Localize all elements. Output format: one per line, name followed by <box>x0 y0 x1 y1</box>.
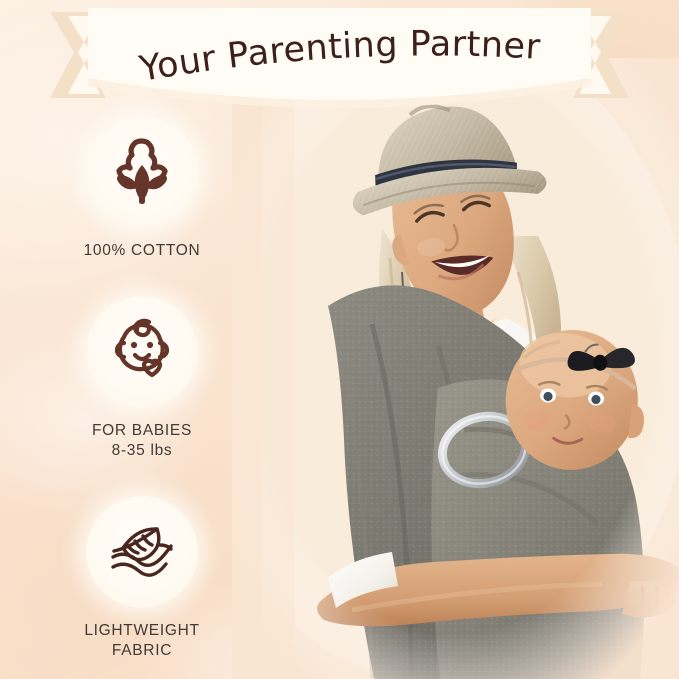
cotton-boll-icon <box>105 135 179 209</box>
baby-face-icon <box>104 317 180 387</box>
feature-cotton: 100% COTTON <box>58 116 226 261</box>
feather-fabric-icon <box>102 521 182 583</box>
feature-cotton-label: 100% COTTON <box>58 241 226 261</box>
feature-cotton-badge <box>86 116 198 228</box>
mother-and-baby-photo <box>232 58 679 679</box>
product-feature-graphic: Your Parenting Partner <box>0 0 679 679</box>
feature-babies: FOR BABIES 8-35 lbs <box>58 296 226 462</box>
feature-lightweight-label: LIGHTWEIGHT FABRIC <box>58 621 226 662</box>
feature-lightweight: LIGHTWEIGHT FABRIC <box>58 496 226 662</box>
feature-babies-badge <box>86 296 198 408</box>
feature-babies-label: FOR BABIES 8-35 lbs <box>58 421 226 462</box>
headline-ribbon-banner: Your Parenting Partner <box>48 6 631 114</box>
feature-lightweight-badge <box>86 496 198 608</box>
